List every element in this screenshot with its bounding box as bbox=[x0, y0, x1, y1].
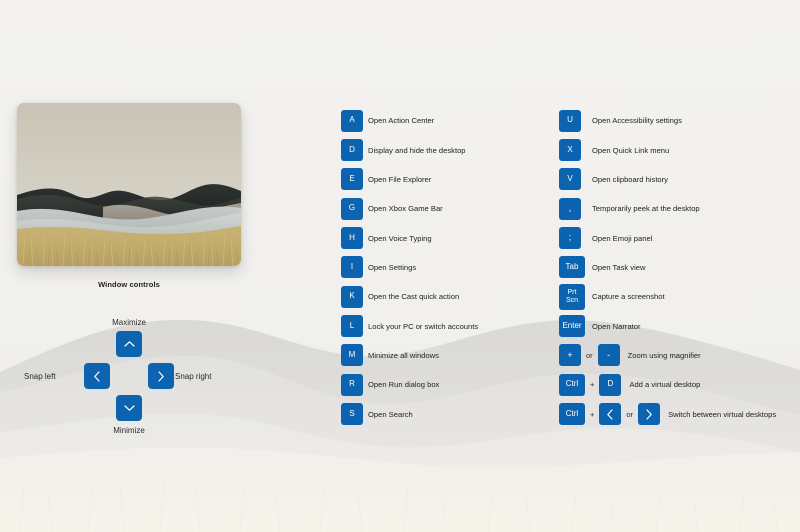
key-u[interactable]: U bbox=[559, 110, 581, 132]
shortcut-description: Open Settings bbox=[368, 263, 416, 272]
shortcut-description: Open Run dialog box bbox=[368, 380, 439, 389]
shortcut-description: Lock your PC or switch accounts bbox=[368, 322, 478, 331]
minimize-label: Minimize bbox=[17, 426, 241, 435]
key-g[interactable]: G bbox=[341, 198, 363, 220]
shortcut-column-right: UOpen Accessibility settingsXOpen Quick … bbox=[559, 106, 776, 429]
maximize-label: Maximize bbox=[17, 318, 241, 327]
chevron-left-icon bbox=[93, 371, 101, 382]
key-r[interactable]: R bbox=[341, 374, 363, 396]
shortcut-description: Open Quick Link menu bbox=[592, 146, 669, 155]
shortcut-row: XOpen Quick Link menu bbox=[559, 135, 776, 164]
key-s[interactable]: S bbox=[341, 403, 363, 425]
shortcut-keys: S bbox=[341, 403, 363, 425]
shortcut-row: MMinimize all windows bbox=[341, 341, 478, 370]
chevron-right-icon bbox=[157, 371, 165, 382]
shortcut-row: DDisplay and hide the desktop bbox=[341, 135, 478, 164]
shortcut-description: Open Emoji panel bbox=[592, 234, 652, 243]
shortcut-description: Open Accessibility settings bbox=[592, 116, 682, 125]
key-h[interactable]: H bbox=[341, 227, 363, 249]
shortcut-keys: G bbox=[341, 198, 363, 220]
chevron-right-icon bbox=[645, 409, 653, 420]
key-enter[interactable]: Enter bbox=[559, 315, 585, 337]
shortcut-keys: M bbox=[341, 344, 363, 366]
shortcut-keys: Prt Scn bbox=[559, 284, 587, 310]
shortcut-keys: Ctrl+or bbox=[559, 403, 660, 425]
shortcut-row: ,Temporarily peek at the desktop bbox=[559, 194, 776, 223]
shortcut-keys: I bbox=[341, 256, 363, 278]
shortcut-description: Display and hide the desktop bbox=[368, 146, 466, 155]
key-e[interactable]: E bbox=[341, 168, 363, 190]
shortcuts-poster: Window controls Maximize Minimize Snap l… bbox=[0, 0, 800, 532]
shortcut-row: Ctrl+orSwitch between virtual desktops bbox=[559, 399, 776, 428]
shortcut-row: ROpen Run dialog box bbox=[341, 370, 478, 399]
shortcut-description: Open File Explorer bbox=[368, 175, 431, 184]
shortcut-description: Open Narrator bbox=[592, 322, 641, 331]
shortcut-description: Add a virtual desktop bbox=[629, 380, 700, 389]
chevron-left-icon bbox=[606, 409, 614, 420]
window-controls-diagram: Window controls Maximize Minimize Snap l… bbox=[17, 280, 241, 445]
key-m[interactable]: M bbox=[341, 344, 363, 366]
shortcut-row: EOpen File Explorer bbox=[341, 165, 478, 194]
shortcut-keys: V bbox=[559, 168, 587, 190]
shortcut-description: Open Xbox Game Bar bbox=[368, 204, 443, 213]
shortcut-row: VOpen clipboard history bbox=[559, 165, 776, 194]
key-;[interactable]: ; bbox=[559, 227, 581, 249]
shortcut-keys: L bbox=[341, 315, 363, 337]
key-v[interactable]: V bbox=[559, 168, 581, 190]
shortcut-keys: Tab bbox=[559, 256, 587, 278]
maximize-key[interactable] bbox=[116, 331, 142, 357]
shortcut-row: Prt ScnCapture a screenshot bbox=[559, 282, 776, 311]
key-prt-scn[interactable]: Prt Scn bbox=[559, 284, 585, 310]
shortcut-row: IOpen Settings bbox=[341, 253, 478, 282]
key-chevron-right-icon[interactable] bbox=[638, 403, 660, 425]
chevron-up-icon bbox=[124, 340, 135, 348]
key-i[interactable]: I bbox=[341, 256, 363, 278]
key-d[interactable]: D bbox=[599, 374, 621, 396]
snap-right-key[interactable] bbox=[148, 363, 174, 389]
shortcut-description: Zoom using magnifier bbox=[628, 351, 701, 360]
shortcut-keys: K bbox=[341, 286, 363, 308]
key-,[interactable]: , bbox=[559, 198, 581, 220]
shortcut-description: Open the Cast quick action bbox=[368, 292, 459, 301]
shortcut-keys: Enter bbox=[559, 315, 587, 337]
shortcut-row: +or-Zoom using magnifier bbox=[559, 341, 776, 370]
key-plus-separator: + bbox=[585, 380, 599, 389]
key-ctrl[interactable]: Ctrl bbox=[559, 374, 585, 396]
shortcut-keys: +or- bbox=[559, 344, 620, 366]
key-l[interactable]: L bbox=[341, 315, 363, 337]
snap-left-key[interactable] bbox=[84, 363, 110, 389]
shortcut-row: KOpen the Cast quick action bbox=[341, 282, 478, 311]
key-d[interactable]: D bbox=[341, 139, 363, 161]
shortcut-row: EnterOpen Narrator bbox=[559, 311, 776, 340]
shortcut-keys: A bbox=[341, 110, 363, 132]
shortcut-keys: H bbox=[341, 227, 363, 249]
snap-right-label: Snap right bbox=[175, 372, 211, 381]
shortcut-row: GOpen Xbox Game Bar bbox=[341, 194, 478, 223]
shortcut-keys: X bbox=[559, 139, 587, 161]
minimize-key[interactable] bbox=[116, 395, 142, 421]
shortcut-row: HOpen Voice Typing bbox=[341, 223, 478, 252]
key-plus-separator: + bbox=[585, 410, 599, 419]
shortcut-row: AOpen Action Center bbox=[341, 106, 478, 135]
key-ctrl[interactable]: Ctrl bbox=[559, 403, 585, 425]
shortcut-description: Open Action Center bbox=[368, 116, 434, 125]
key--[interactable]: - bbox=[598, 344, 620, 366]
shortcut-description: Open Search bbox=[368, 410, 413, 419]
chevron-down-icon bbox=[124, 404, 135, 412]
shortcut-description: Open Voice Typing bbox=[368, 234, 432, 243]
key-or-separator: or bbox=[621, 410, 638, 419]
snap-left-label: Snap left bbox=[24, 372, 56, 381]
shortcut-keys: E bbox=[341, 168, 363, 190]
shortcut-row: LLock your PC or switch accounts bbox=[341, 311, 478, 340]
shortcut-keys: Ctrl+D bbox=[559, 374, 621, 396]
shortcut-row: Ctrl+DAdd a virtual desktop bbox=[559, 370, 776, 399]
shortcut-keys: D bbox=[341, 139, 363, 161]
shortcut-row: SOpen Search bbox=[341, 399, 478, 428]
shortcut-description: Capture a screenshot bbox=[592, 292, 665, 301]
shortcut-keys: R bbox=[341, 374, 363, 396]
shortcut-keys: ; bbox=[559, 227, 587, 249]
shortcut-keys: , bbox=[559, 198, 587, 220]
shortcut-description: Switch between virtual desktops bbox=[668, 410, 776, 419]
shortcut-description: Open clipboard history bbox=[592, 175, 668, 184]
shortcut-row: UOpen Accessibility settings bbox=[559, 106, 776, 135]
key-a[interactable]: A bbox=[341, 110, 363, 132]
key-chevron-left-icon[interactable] bbox=[599, 403, 621, 425]
key-or-separator: or bbox=[581, 351, 598, 360]
shortcut-keys: U bbox=[559, 110, 587, 132]
shortcut-row: TabOpen Task view bbox=[559, 253, 776, 282]
shortcut-row: ;Open Emoji panel bbox=[559, 223, 776, 252]
key-tab[interactable]: Tab bbox=[559, 256, 585, 278]
key-k[interactable]: K bbox=[341, 286, 363, 308]
wallpaper-thumbnail bbox=[17, 103, 241, 266]
shortcut-description: Open Task view bbox=[592, 263, 645, 272]
key-x[interactable]: X bbox=[559, 139, 581, 161]
shortcut-column-left: AOpen Action CenterDDisplay and hide the… bbox=[341, 106, 478, 429]
window-controls-title: Window controls bbox=[17, 280, 241, 289]
shortcut-description: Temporarily peek at the desktop bbox=[592, 204, 700, 213]
shortcut-description: Minimize all windows bbox=[368, 351, 439, 360]
key-+[interactable]: + bbox=[559, 344, 581, 366]
